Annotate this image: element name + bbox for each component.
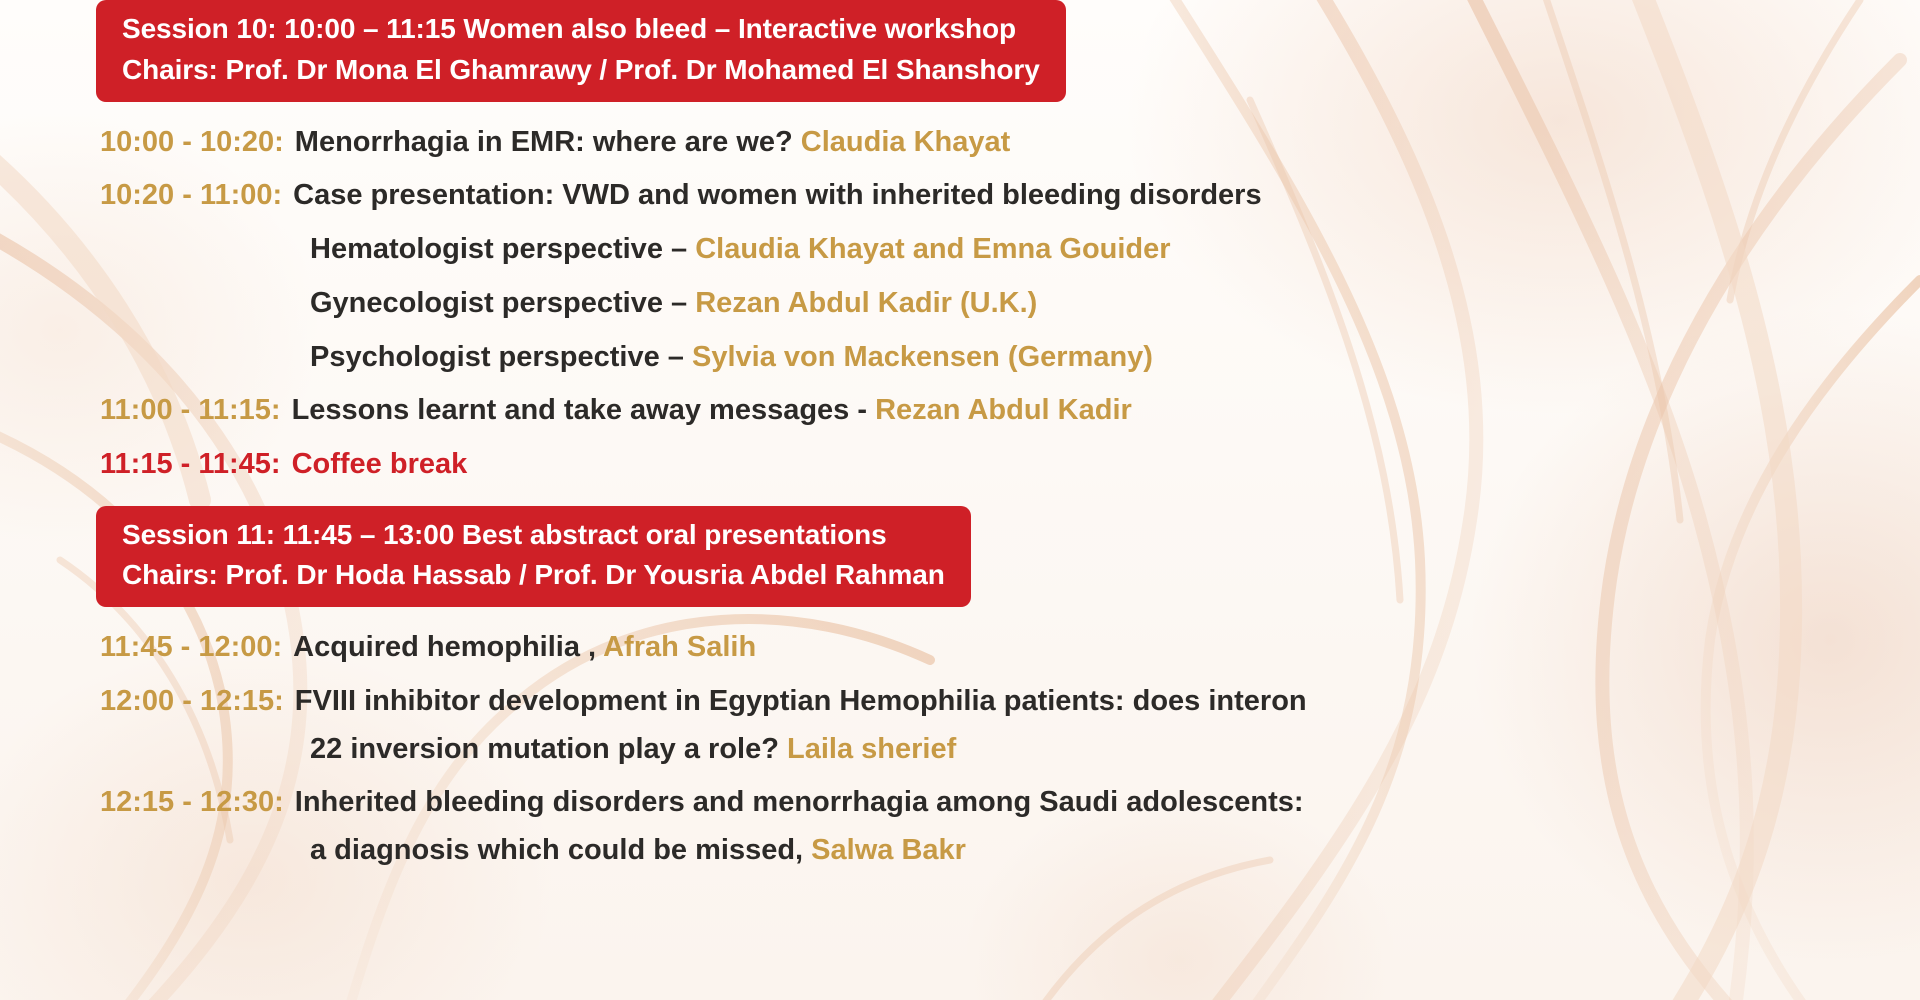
entry-title: FVIII inhibitor development in Egyptian … [295, 685, 1307, 717]
entry-body: Gynecologist perspective – Rezan Abdul K… [310, 285, 1920, 323]
programme-entry: 10:20 - 11:00: Case presentation: VWD an… [0, 177, 1920, 215]
programme-entry: 11:00 - 11:15: Lessons learnt and take a… [0, 392, 1920, 430]
entry-speaker: Claudia Khayat and Emna Gouider [695, 233, 1170, 265]
session-header-10: Session 10: 10:00 – 11:15 Women also ble… [96, 0, 1066, 102]
entry-time: 11:45 - 12:00: [100, 629, 282, 667]
entry-title: Hematologist perspective – [310, 233, 695, 265]
entry-time: 12:15 - 12:30: [100, 784, 284, 822]
entry-speaker: Rezan Abdul Kadir (U.K.) [695, 287, 1037, 319]
entry-title: Menorrhagia in EMR: where are we? [295, 126, 801, 158]
programme-subentry: 22 inversion mutation play a role? Laila… [0, 731, 1920, 769]
entry-time: 10:20 - 11:00: [100, 177, 282, 215]
entry-body: Menorrhagia in EMR: where are we? Claudi… [295, 124, 1920, 162]
entry-title: Case presentation: VWD and women with in… [293, 179, 1261, 211]
programme-entry: 12:15 - 12:30: Inherited bleeding disord… [0, 784, 1920, 822]
entry-body: 22 inversion mutation play a role? Laila… [310, 731, 1920, 769]
entry-body: Inherited bleeding disorders and menorrh… [295, 784, 1920, 822]
entry-title: Lessons learnt and take away messages - [292, 394, 876, 426]
programme-subentry-clipped: a diagnosis which could be missed, Salwa… [0, 832, 1920, 870]
entry-speaker: Laila sherief [787, 733, 956, 765]
entry-speaker: Afrah Salih [603, 631, 756, 663]
entry-speaker: Sylvia von Mackensen (Germany) [692, 341, 1153, 373]
entry-body: Case presentation: VWD and women with in… [293, 177, 1920, 215]
entry-speaker: Claudia Khayat [801, 126, 1011, 158]
entry-body: Acquired hemophilia , Afrah Salih [293, 629, 1920, 667]
entry-time: 11:00 - 11:15: [100, 392, 281, 430]
programme-entry: 12:00 - 12:15: FVIII inhibitor developme… [0, 683, 1920, 721]
entry-speaker: Rezan Abdul Kadir [875, 394, 1132, 426]
entry-body: Lessons learnt and take away messages - … [292, 392, 1920, 430]
session-11-title: Session 11: 11:45 – 13:00 Best abstract … [122, 515, 945, 556]
session-10-title: Session 10: 10:00 – 11:15 Women also ble… [122, 9, 1040, 50]
entry-title: a diagnosis which could be missed, [310, 834, 811, 866]
programme-entry: 10:00 - 10:20: Menorrhagia in EMR: where… [0, 124, 1920, 162]
entry-time: 10:00 - 10:20: [100, 124, 284, 162]
session-11-chairs: Chairs: Prof. Dr Hoda Hassab / Prof. Dr … [122, 555, 945, 596]
session-10-chairs: Chairs: Prof. Dr Mona El Ghamrawy / Prof… [122, 50, 1040, 91]
programme-page: Session 10: 10:00 – 11:15 Women also ble… [0, 0, 1920, 1000]
coffee-break-time: 11:15 - 11:45: [100, 446, 281, 484]
entry-title: Acquired hemophilia , [293, 631, 603, 663]
programme-subentry: Hematologist perspective – Claudia Khaya… [0, 231, 1920, 269]
programme-subentry: Gynecologist perspective – Rezan Abdul K… [0, 285, 1920, 323]
entry-speaker: Salwa Bakr [811, 834, 966, 866]
entry-body: FVIII inhibitor development in Egyptian … [295, 683, 1920, 721]
programme-subentry: Psychologist perspective – Sylvia von Ma… [0, 339, 1920, 377]
entry-body: Psychologist perspective – Sylvia von Ma… [310, 339, 1920, 377]
entry-title: Inherited bleeding disorders and menorrh… [295, 786, 1304, 818]
entry-time: 12:00 - 12:15: [100, 683, 284, 721]
entry-title: Gynecologist perspective – [310, 287, 695, 319]
entry-body: a diagnosis which could be missed, Salwa… [310, 832, 1920, 870]
session-header-11: Session 11: 11:45 – 13:00 Best abstract … [96, 506, 971, 608]
entry-body: Hematologist perspective – Claudia Khaya… [310, 231, 1920, 269]
entry-title: Psychologist perspective – [310, 341, 692, 373]
coffee-break-row: 11:15 - 11:45: Coffee break [0, 446, 1920, 484]
programme-entry: 11:45 - 12:00: Acquired hemophilia , Afr… [0, 629, 1920, 667]
coffee-break-label: Coffee break [292, 446, 1920, 484]
entry-title: 22 inversion mutation play a role? [310, 733, 787, 765]
